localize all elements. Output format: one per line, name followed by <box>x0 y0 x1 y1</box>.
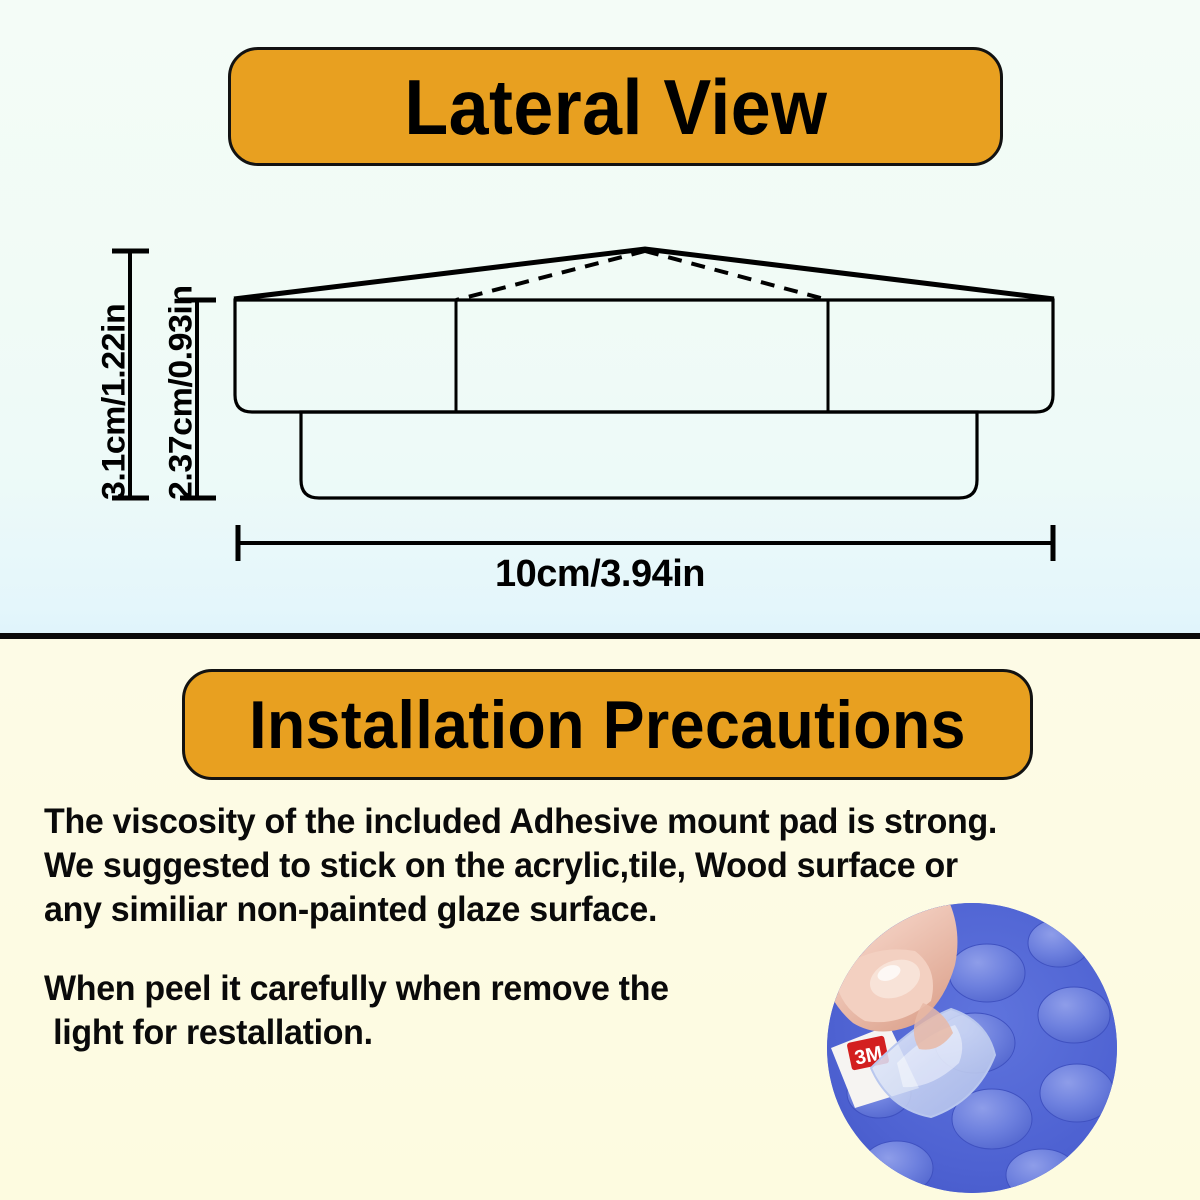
lateral-view-panel: 3.1cm/1.22in 2.37cm/0.93in 10cm/3.94in L… <box>0 0 1200 633</box>
product-infographic-page: 3.1cm/1.22in 2.37cm/0.93in 10cm/3.94in L… <box>0 0 1200 1200</box>
diagram-base-outline <box>301 412 977 498</box>
dimension-label-total-height: 3.1cm/1.22in <box>96 304 133 500</box>
dimension-label-body-height: 2.37cm/0.93in <box>163 285 200 500</box>
lateral-view-title-label: Lateral View <box>404 68 827 146</box>
lateral-view-title-banner: Lateral View <box>228 47 1003 166</box>
installation-precautions-title-banner: Installation Precautions <box>182 669 1033 780</box>
adhesive-photo-illustration: 3M <box>827 903 1117 1193</box>
adhesive-pad-peel-photo: 3M <box>827 903 1117 1193</box>
precaution-paragraph-adhesive: The viscosity of the included Adhesive m… <box>44 800 997 932</box>
installation-precautions-title-label: Installation Precautions <box>249 691 966 759</box>
diagram-apex-roof <box>234 249 1054 299</box>
precaution-paragraph-removal: When peel it carefully when remove the l… <box>44 967 669 1055</box>
diagram-body-outline <box>235 300 1053 412</box>
dimension-label-width: 10cm/3.94in <box>0 553 1200 596</box>
